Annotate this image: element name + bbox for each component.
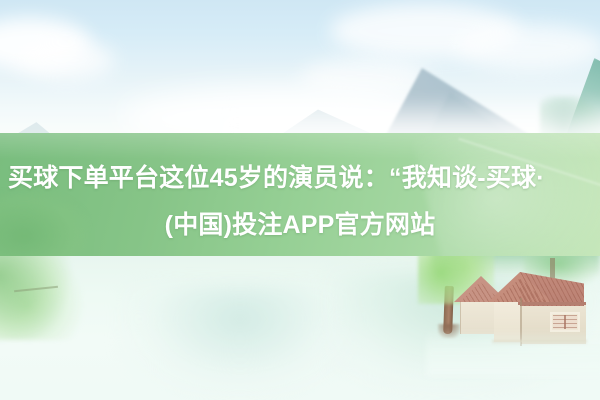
banner-image: 买球下单平台这位45岁的演员说：“我知谈-买球· (中国)投注APP官方网站 [0,0,600,400]
scene-fade-overlay [426,330,600,376]
caption-text: 买球下单平台这位45岁的演员说：“我知谈-买球· (中国)投注APP官方网站 [0,133,600,256]
cloud-icon [455,24,600,70]
house-scene [432,246,600,368]
house-roof-eave [518,302,586,305]
caption-line-2: (中国)投注APP官方网站 [0,202,600,249]
foliage-branch-left [0,248,84,340]
window-mullion [564,315,566,329]
caption-line-1: 买球下单平台这位45岁的演员说：“我知谈-买球· [8,155,545,202]
ground-mist-left [120,286,360,396]
cloud-icon [18,40,114,80]
